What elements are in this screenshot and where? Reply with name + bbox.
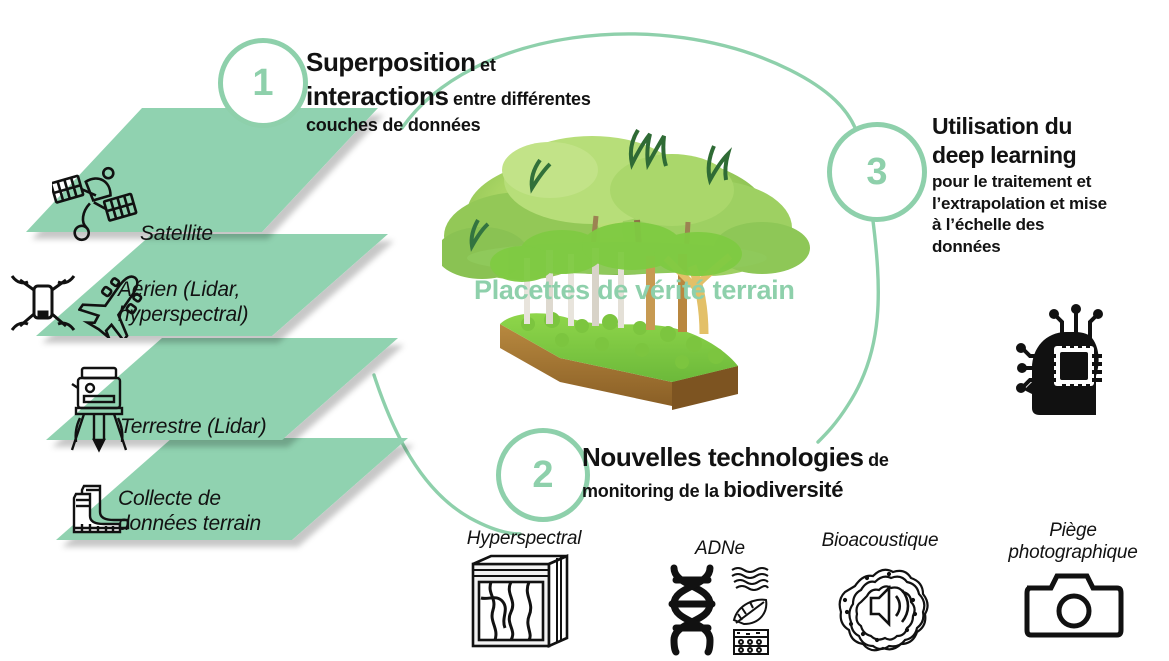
technology-label-hyperspectral: Hyperspectral xyxy=(440,528,608,550)
brain-chip-icon xyxy=(1000,298,1112,421)
technology-adne: ADNe xyxy=(640,538,800,661)
step-2-bold-2: biodiversité xyxy=(723,477,843,502)
camera-icon xyxy=(980,568,1166,645)
step-number-3: 3 xyxy=(827,122,927,222)
step-1-bold-2: interactions xyxy=(306,81,449,111)
step-3-light-1: pour le traitement et xyxy=(932,171,1169,193)
step-1-light-2: entre différentes xyxy=(453,89,591,109)
technology-label-adne: ADNe xyxy=(640,538,800,560)
step-number-2: 2 xyxy=(496,428,590,522)
hyperspectral-cube-icon xyxy=(440,554,608,655)
step-2-light-2: monitoring de la xyxy=(582,481,719,501)
step-3-bold-lead: Utilisation du xyxy=(932,112,1169,141)
layer-label-terrestre: Terrestre (Lidar) xyxy=(120,415,266,440)
step-2-light-1: de xyxy=(868,450,889,470)
step-3-light-3: à l’échelle des xyxy=(932,214,1169,236)
forest-plot-caption: Placettes de vérité terrain xyxy=(474,275,795,306)
layer-label-satellite: Satellite xyxy=(140,222,213,247)
step-3-light-2: l’extrapolation et mise xyxy=(932,193,1169,215)
step-1-text: Superposition et interactions entre diff… xyxy=(306,46,666,137)
step-3-text: Utilisation du deep learning pour le tra… xyxy=(932,112,1169,258)
step-1-bold-lead: Superposition xyxy=(306,47,476,77)
dna-helix-icon xyxy=(640,564,800,661)
survey-tripod-icon xyxy=(60,362,140,459)
satellite-icon xyxy=(52,162,138,249)
technology-label-bioacoustique: Bioacoustique xyxy=(790,530,970,552)
layer-label-collecte: Collecte de données terrain xyxy=(118,487,261,537)
diagram-canvas: 1 2 3 xyxy=(0,0,1169,655)
step-1-light-1: et xyxy=(480,55,496,75)
step-2-bold-lead: Nouvelles technologies xyxy=(582,442,864,472)
forest-plot-photo xyxy=(442,108,812,418)
technology-label-piege: Piège photographique xyxy=(980,520,1166,564)
layer-label-aerien: Aérien (Lidar, hyperspectral) xyxy=(118,278,248,328)
technology-bioacoustique: Bioacoustique xyxy=(790,530,970,661)
arc-right xyxy=(818,213,878,442)
step-3-bold-2: deep learning xyxy=(932,141,1169,170)
step-1-light-3: couches de données xyxy=(306,115,480,135)
drone-icon xyxy=(8,272,78,339)
step-2-text: Nouvelles technologies de monitoring de … xyxy=(582,440,1012,504)
ground-plot-block xyxy=(490,222,742,410)
bioacoustic-speaker-icon xyxy=(790,556,970,661)
step-3-light-4: données xyxy=(932,236,1169,258)
technology-piege-photographique: Piège photographique xyxy=(980,520,1166,645)
step-number-1: 1 xyxy=(218,38,308,128)
technology-hyperspectral: Hyperspectral xyxy=(440,528,608,655)
